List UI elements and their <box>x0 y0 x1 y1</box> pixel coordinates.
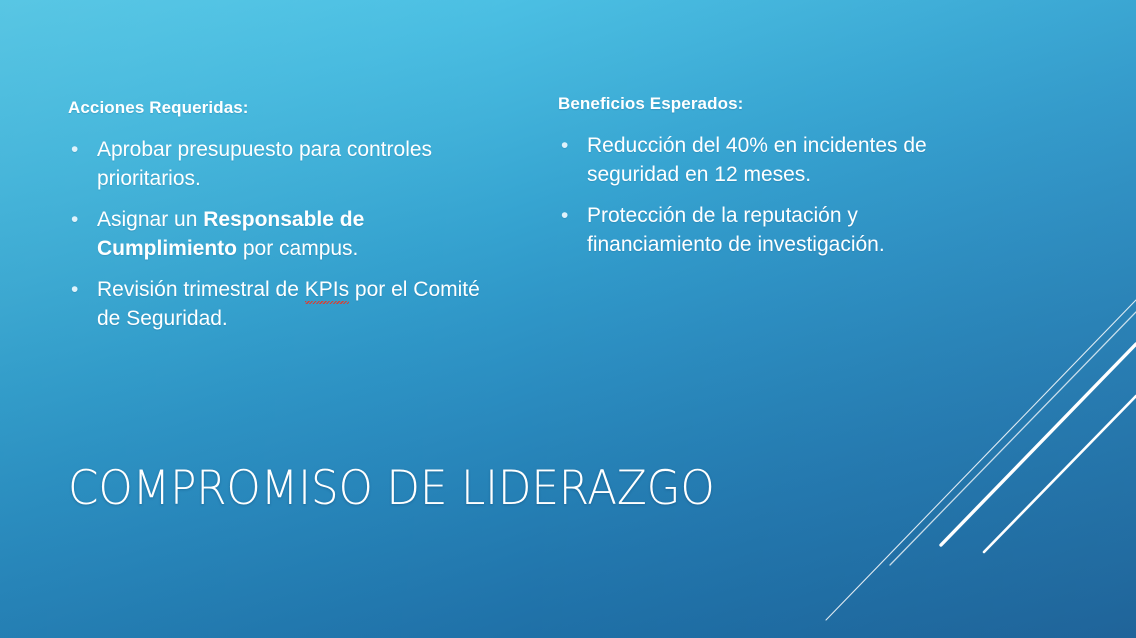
bullet-item: •Reducción del 40% en incidentes de segu… <box>558 132 958 189</box>
bullet-list-acciones: •Aprobar presupuesto para controles prio… <box>68 136 508 333</box>
bullet-marker-icon: • <box>71 206 85 235</box>
plain-text: por campus. <box>237 237 358 260</box>
bullet-item: •Aprobar presupuesto para controles prio… <box>68 136 508 193</box>
misspelled-word: KPIs <box>305 276 349 305</box>
presentation-slide: Acciones Requeridas: •Aprobar presupuest… <box>0 0 1136 638</box>
slide-content: Acciones Requeridas: •Aprobar presupuest… <box>0 0 1136 638</box>
plain-text: Aprobar presupuesto para controles prior… <box>97 138 432 190</box>
plain-text: Asignar un <box>97 208 203 231</box>
bullet-item: •Revisión trimestral de KPIs por el Comi… <box>68 276 508 333</box>
bullet-marker-icon: • <box>561 132 575 161</box>
bullet-marker-icon: • <box>71 276 85 305</box>
bullet-marker-icon: • <box>561 202 575 231</box>
bullet-item: •Protección de la reputación y financiam… <box>558 202 958 259</box>
plain-text: Revisión trimestral de <box>97 278 305 301</box>
bullet-text: Asignar un Responsable de Cumplimiento p… <box>97 208 364 260</box>
bullet-text: Aprobar presupuesto para controles prior… <box>97 138 432 190</box>
column-heading-beneficios: Beneficios Esperados: <box>558 93 743 115</box>
plain-text: Protección de la reputación y financiami… <box>587 204 885 256</box>
slide-title: COMPROMISO DE LIDERAZGO <box>68 460 715 518</box>
bullet-item: •Asignar un Responsable de Cumplimiento … <box>68 206 508 263</box>
column-heading-acciones: Acciones Requeridas: <box>68 97 249 119</box>
bullet-list-beneficios: •Reducción del 40% en incidentes de segu… <box>558 132 958 259</box>
bullet-text: Protección de la reputación y financiami… <box>587 204 885 256</box>
bullet-text: Revisión trimestral de KPIs por el Comit… <box>97 278 480 330</box>
bullet-marker-icon: • <box>71 136 85 165</box>
plain-text: Reducción del 40% en incidentes de segur… <box>587 134 927 186</box>
bullet-text: Reducción del 40% en incidentes de segur… <box>587 134 927 186</box>
